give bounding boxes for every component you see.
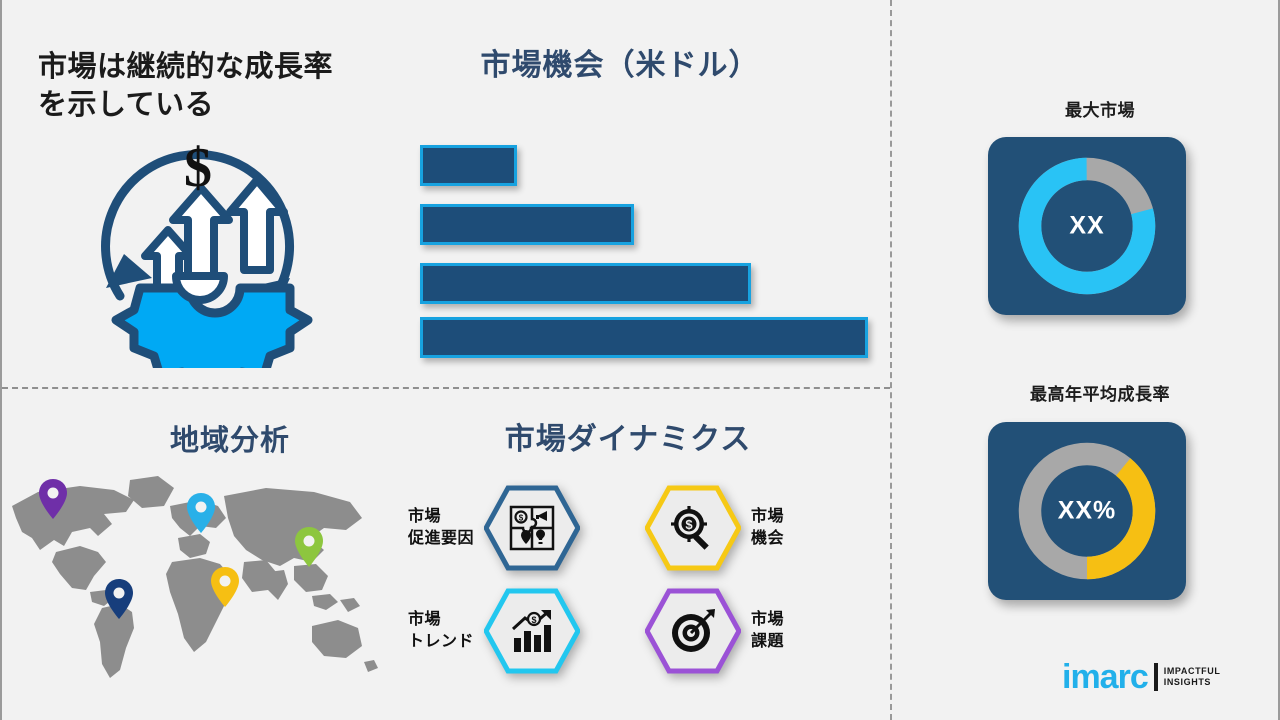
dynamics-item-market-trends[interactable]: 市場 トレンド $ [408, 588, 580, 674]
infographic-slide: 市場は継続的な成長率 を示している $ 市場機会（米ドル） [0, 0, 1280, 720]
imarc-logo: imarc IMPACTFUL INSIGHTS [1062, 660, 1220, 694]
dynamics-label: 市場 トレンド [408, 609, 474, 652]
logo-tagline: IMPACTFUL INSIGHTS [1164, 666, 1221, 689]
target-dart-icon [668, 606, 718, 656]
dynamics-label: 市場 促進要因 [408, 506, 474, 549]
world-map [0, 466, 394, 686]
logo-wordmark: imarc [1062, 660, 1148, 694]
bar-item [420, 145, 517, 186]
highest-cagr-donut [1012, 436, 1162, 586]
dynamics-item-market-opportunities[interactable]: $ 市場 機会 [645, 485, 784, 571]
dynamics-item-market-challenges[interactable]: 市場 課題 [645, 588, 784, 674]
logo-divider [1154, 663, 1158, 691]
svg-text:$: $ [685, 517, 693, 532]
growth-bar-chart-icon: $ [507, 606, 557, 656]
page-title: 市場は継続的な成長率 を示している [38, 48, 388, 125]
opportunity-bar-chart [420, 145, 880, 350]
dollar-magnifier-icon: $ [668, 503, 718, 553]
map-pin-middle-east [210, 566, 240, 608]
highest-cagr-title: 最高年平均成長率 [950, 380, 1250, 405]
dynamics-label: 市場 課題 [751, 609, 784, 652]
section-title-dynamics: 市場ダイナミクス [418, 422, 838, 458]
bar-item [420, 204, 634, 245]
horizontal-divider [2, 387, 890, 389]
puzzle-strategy-icon: $ [507, 503, 557, 553]
largest-market-title: 最大市場 [950, 96, 1250, 121]
map-pin-east-asia [294, 526, 324, 568]
map-pin-south-america [104, 578, 134, 620]
svg-text:$: $ [184, 137, 212, 199]
growth-cycle-icon: $ [78, 128, 318, 368]
map-pin-north-america [38, 478, 68, 520]
largest-market-card: XX [988, 137, 1186, 315]
svg-text:$: $ [532, 615, 537, 625]
vertical-divider [890, 0, 892, 720]
svg-text:$: $ [519, 514, 524, 523]
hexagon-badge: $ [645, 485, 741, 571]
hexagon-badge [645, 588, 741, 674]
largest-market-donut [1012, 151, 1162, 301]
dynamics-item-market-drivers[interactable]: 市場 促進要因 $ [408, 485, 580, 571]
highest-cagr-card: XX% [988, 422, 1186, 600]
bar-item [420, 263, 751, 304]
map-pin-europe [186, 492, 216, 534]
section-title-opportunity: 市場機会（米ドル） [420, 48, 820, 84]
hexagon-badge: $ [484, 588, 580, 674]
dynamics-label: 市場 機会 [751, 506, 784, 549]
bar-item [420, 317, 868, 358]
section-title-region: 地域分析 [150, 424, 310, 459]
hexagon-badge: $ [484, 485, 580, 571]
